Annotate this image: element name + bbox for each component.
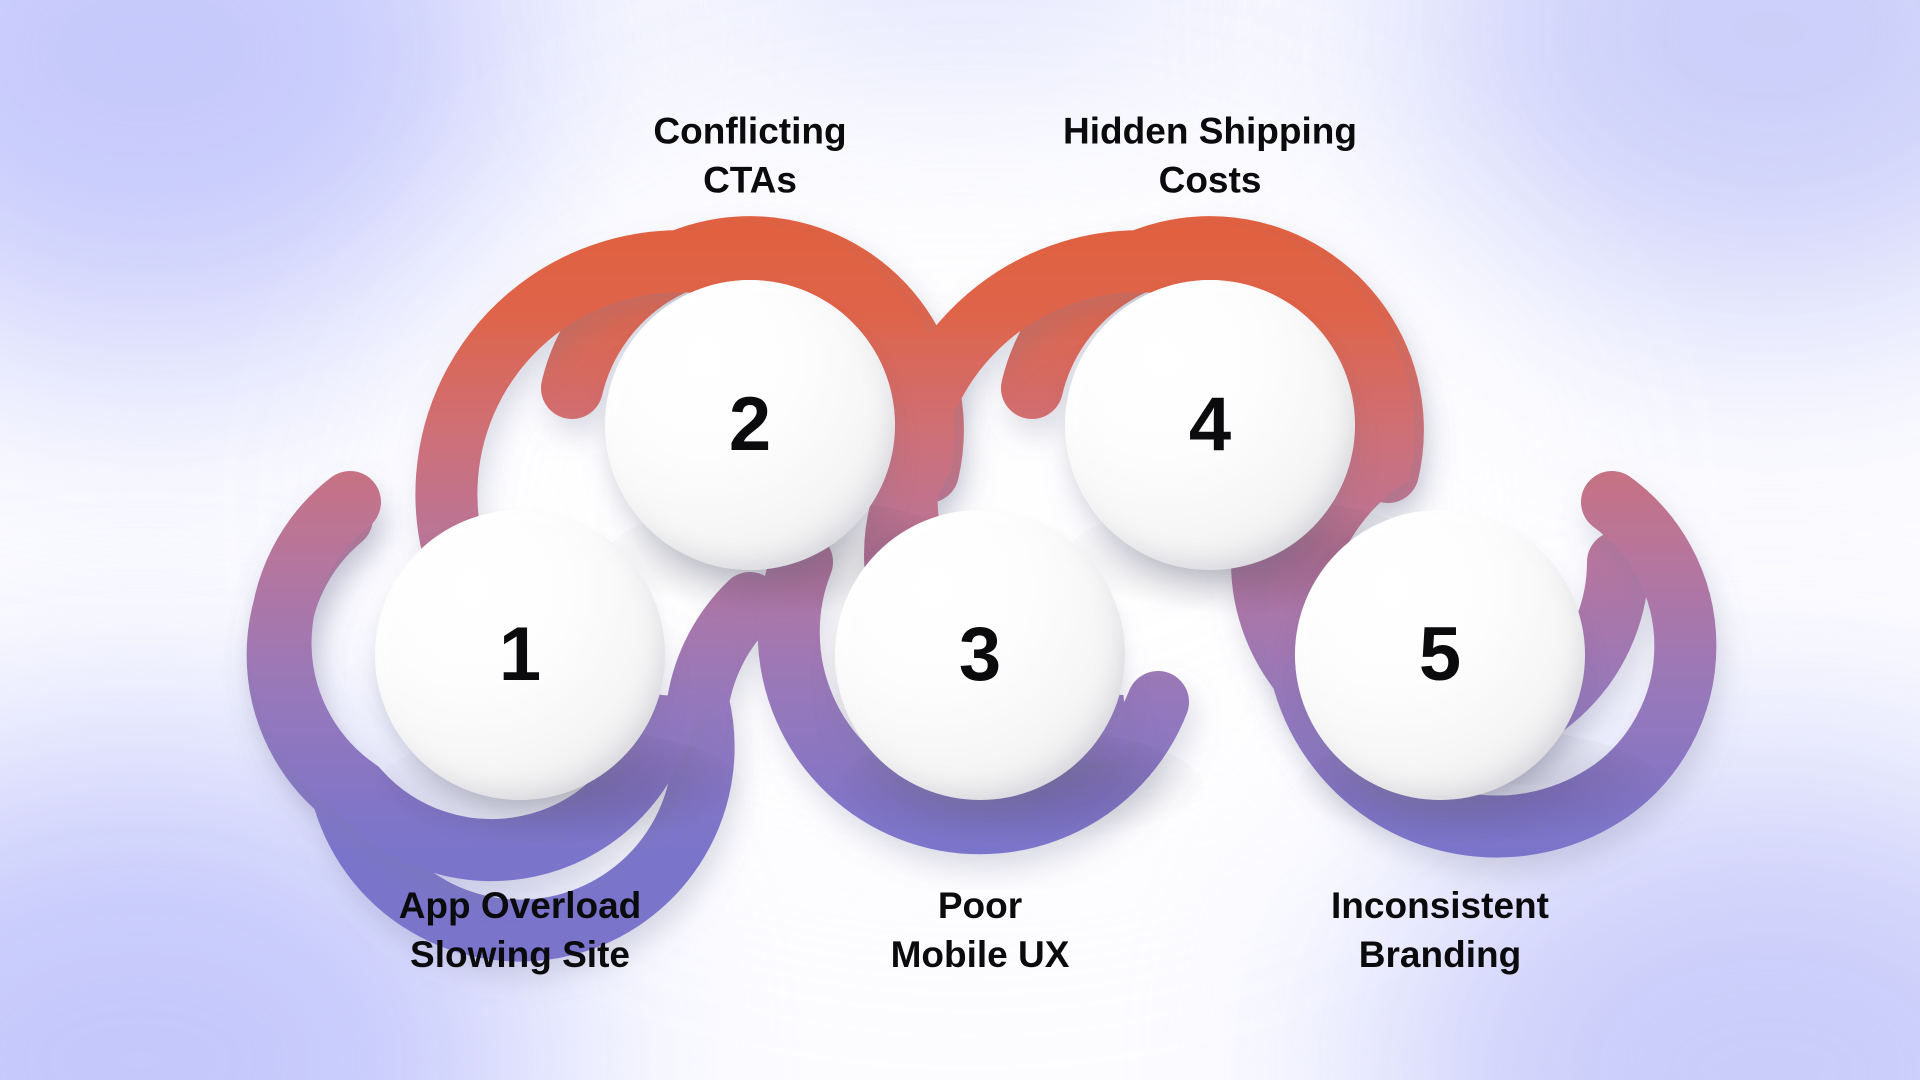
- node-2-label: Conflicting CTAs: [550, 107, 950, 205]
- node-5[interactable]: 5: [1295, 510, 1585, 800]
- infographic-stage: 1 2 3 4 5 App Overload Slowing Site Conf…: [0, 0, 1920, 1080]
- node-4-label: Hidden Shipping Costs: [1010, 107, 1410, 205]
- node-3-label: Poor Mobile UX: [780, 882, 1180, 980]
- node-5-label: Inconsistent Branding: [1240, 882, 1640, 980]
- node-5-number: 5: [1295, 510, 1585, 800]
- node-1-label: App Overload Slowing Site: [320, 882, 720, 980]
